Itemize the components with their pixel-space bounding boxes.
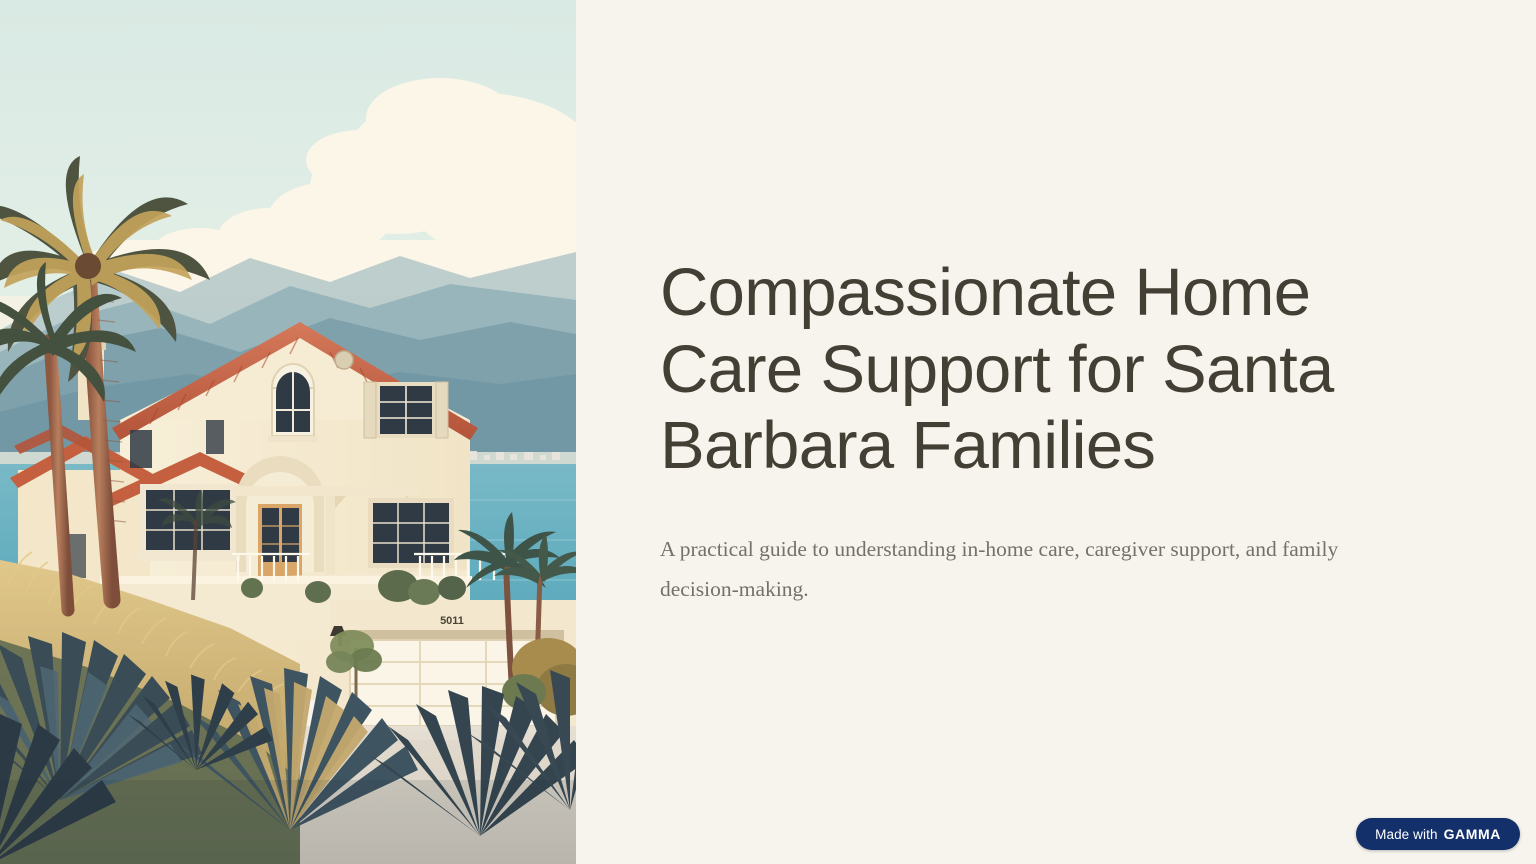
upper-right-window — [364, 382, 448, 438]
house-number-label: 5011 — [440, 615, 464, 627]
badge-prefix-label: Made with — [1375, 827, 1437, 842]
window-sill — [268, 436, 318, 442]
shutter-left — [364, 382, 376, 438]
slide-subtitle: A practical guide to understanding in-ho… — [660, 530, 1420, 608]
slide-text-panel: Compassionate Home Care Support for Sant… — [576, 0, 1536, 864]
arched-window — [268, 364, 318, 442]
made-with-gamma-badge[interactable]: Made with GAMMA — [1356, 818, 1520, 850]
gamma-wordmark: GAMMA — [1444, 826, 1501, 842]
presentation-slide: 5011 — [0, 0, 1536, 864]
page-title: Compassionate Home Care Support for Sant… — [660, 255, 1360, 484]
hero-illustration: 5011 — [0, 0, 576, 864]
front-door — [258, 504, 302, 580]
roof-vent — [335, 351, 353, 369]
porch-beam — [228, 486, 418, 496]
coastal-house-illustration-svg: 5011 — [0, 0, 576, 864]
lower-right-window — [368, 498, 454, 568]
shutter-right — [436, 382, 448, 438]
